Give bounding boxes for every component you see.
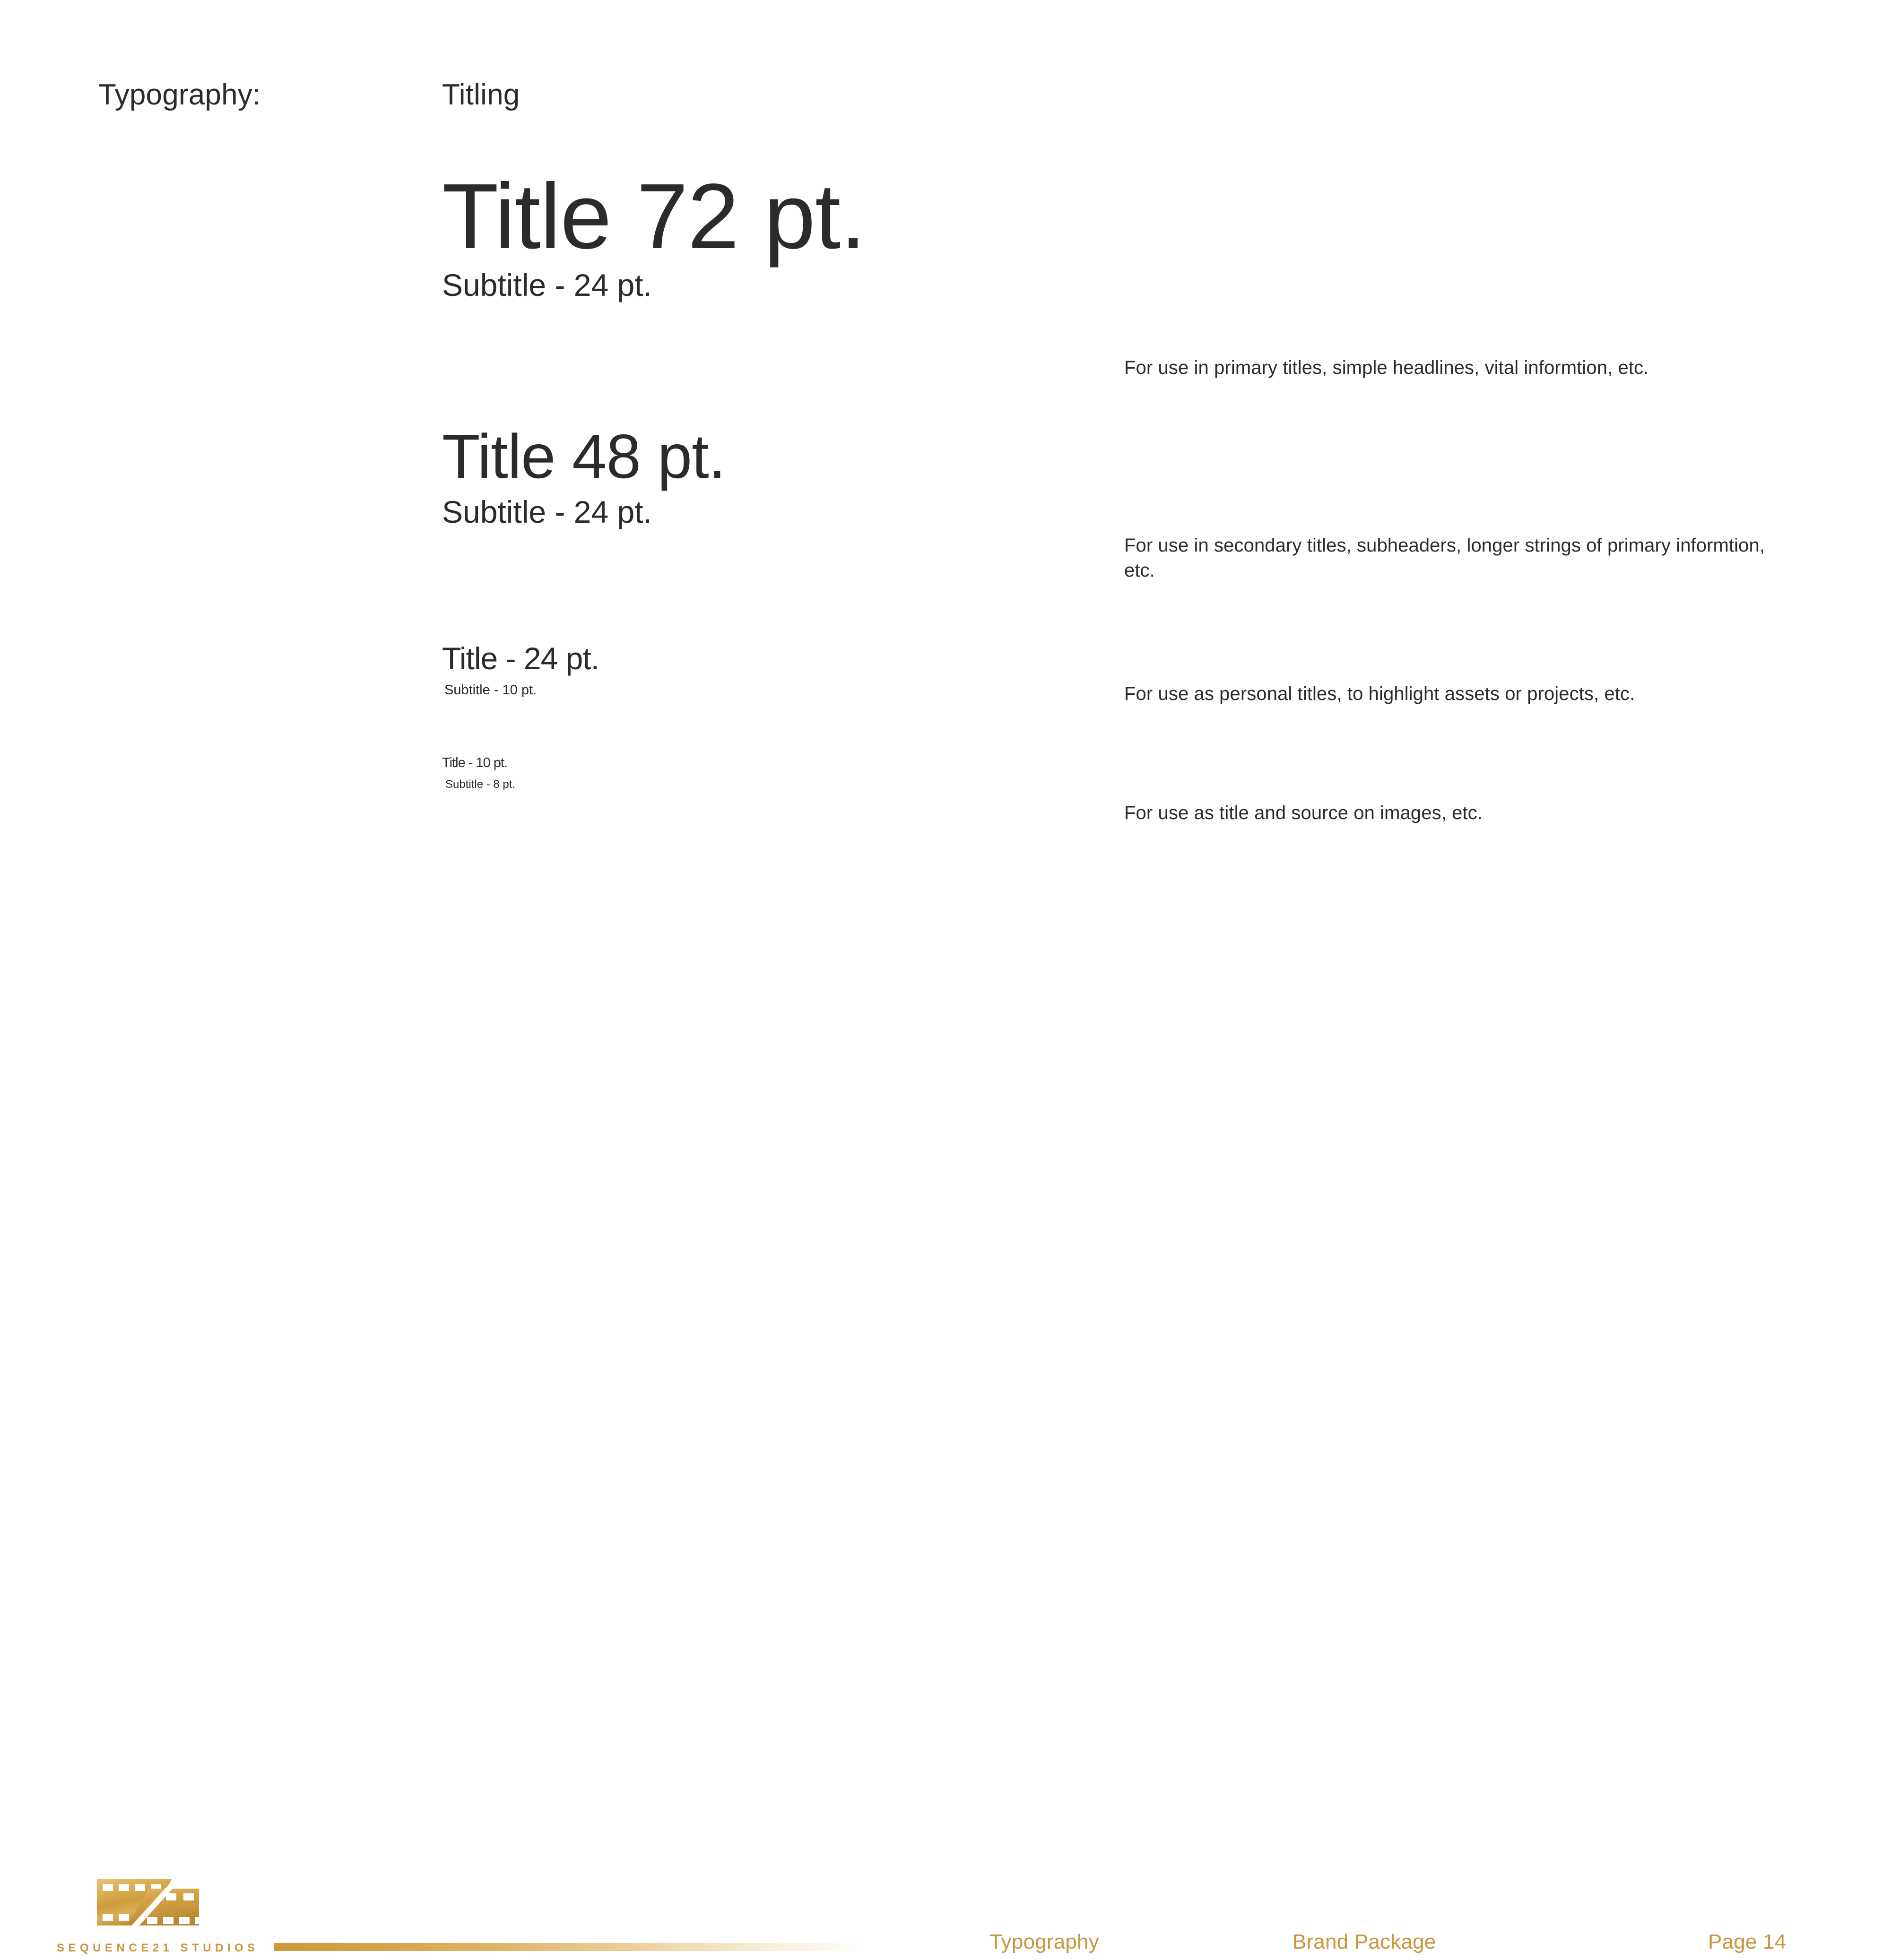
usage-description: For use as title and source on images, e… bbox=[1124, 801, 1796, 826]
slide-footer: SEQUENCE21 STUDIOS Typography Brand Pack… bbox=[0, 929, 1891, 1071]
type-specimen-72: Title 72 pt. Subtitle - 24 pt. bbox=[442, 170, 866, 301]
specimen-subtitle: Subtitle - 10 pt. bbox=[444, 683, 599, 697]
usage-description: For use in secondary titles, subheaders,… bbox=[1124, 533, 1796, 583]
specimen-title: Title 48 pt. bbox=[442, 425, 725, 488]
footer-package-label: Brand Package bbox=[1292, 1932, 1436, 1952]
footer-page-number: Page 14 bbox=[1708, 1932, 1786, 1952]
slide-header: Typography: Titling bbox=[0, 80, 1891, 132]
specimen-subtitle: Subtitle - 24 pt. bbox=[442, 496, 725, 527]
film-strip-icon bbox=[96, 1876, 221, 1928]
specimen-subtitle: Subtitle - 24 pt. bbox=[442, 269, 866, 301]
specimen-subtitle: Subtitle - 8 pt. bbox=[445, 779, 515, 790]
footer-section-label: Typography bbox=[989, 1932, 1099, 1952]
type-specimen-24: Title - 24 pt. Subtitle - 10 pt. bbox=[442, 643, 599, 697]
specimen-title: Title 72 pt. bbox=[442, 170, 866, 263]
header-category-label: Titling bbox=[442, 80, 520, 110]
usage-description: For use as personal titles, to highlight… bbox=[1124, 682, 1796, 707]
specimen-title: Title - 10 pt. bbox=[442, 756, 515, 770]
specimen-title: Title - 24 pt. bbox=[442, 643, 599, 674]
page-title: Typography: bbox=[98, 80, 260, 110]
slide-canvas: Typography: Titling Title 72 pt. Subtitl… bbox=[0, 0, 1891, 1071]
footer-meta: Typography Brand Package Page 14 bbox=[0, 1932, 1891, 1960]
type-specimen-48: Title 48 pt. Subtitle - 24 pt. bbox=[442, 425, 725, 527]
type-specimen-10: Title - 10 pt. Subtitle - 8 pt. bbox=[442, 756, 515, 790]
usage-description: For use in primary titles, simple headli… bbox=[1124, 355, 1796, 380]
